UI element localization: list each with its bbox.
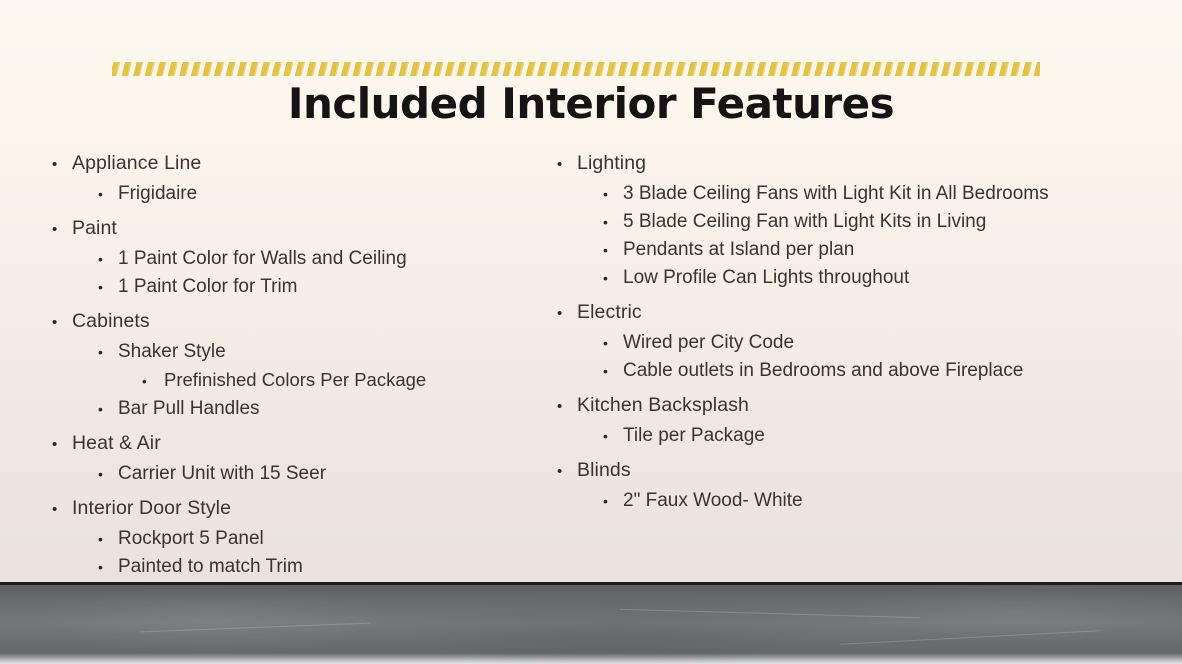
bullet-point-icon: • [603,488,623,515]
bullet-item-label: Lighting [577,148,1069,178]
stone-texture [0,585,1182,664]
bullet-item-level-1: •Appliance Line [44,148,524,180]
bullet-point-icon: • [98,339,118,366]
bullet-item-level-2: •Frigidaire [44,180,524,208]
bullet-item-level-2: •5 Blade Ceiling Fan with Light Kits in … [549,208,1069,236]
bullet-item-level-2: •1 Paint Color for Walls and Ceiling [44,245,524,273]
bullet-point-icon: • [52,215,72,245]
footer-stone-image [0,582,1182,664]
bullet-item-level-2: •Rockport 5 Panel [44,525,524,553]
bullet-item-label: Cabinets [72,306,524,336]
bullet-item-label: Kitchen Backsplash [577,390,1069,420]
bullet-item-label: Cable outlets in Bedrooms and above Fire… [623,357,1069,384]
bullet-item-label: Pendants at Island per plan [623,236,1069,263]
bullet-point-icon: • [603,181,623,208]
left-column: •Appliance Line•Frigidaire•Paint•1 Paint… [44,148,524,581]
bullet-item-level-1: •Paint [44,213,524,245]
bullet-item-level-2: •3 Blade Ceiling Fans with Light Kit in … [549,180,1069,208]
bullet-item-level-2: •Low Profile Can Lights throughout [549,264,1069,292]
bullet-item-level-3: •Prefinished Colors Per Package [44,366,524,395]
bullet-item-level-2: •Shaker Style [44,338,524,366]
bullet-item-level-1: •Heat & Air [44,428,524,460]
bullet-item-label: Wired per City Code [623,329,1069,356]
bullet-point-icon: • [603,237,623,264]
bullet-point-icon: • [98,554,118,581]
bullet-point-icon: • [557,299,577,329]
bullet-item-level-1: •Lighting [549,148,1069,180]
slide-canvas: Included Interior Features •Appliance Li… [0,0,1182,664]
bullet-item-level-2: •Painted to match Trim [44,553,524,581]
bullet-item-label: Heat & Air [72,428,524,458]
bullet-item-label: Electric [577,297,1069,327]
bullet-item-label: Paint [72,213,524,243]
bullet-item-level-2: •Wired per City Code [549,329,1069,357]
bullet-point-icon: • [557,150,577,180]
bullet-point-icon: • [603,330,623,357]
bullet-item-label: 5 Blade Ceiling Fan with Light Kits in L… [623,208,1069,235]
bullet-item-label: Carrier Unit with 15 Seer [118,460,524,487]
bullet-item-label: Tile per Package [623,422,1069,449]
bullet-item-label: Appliance Line [72,148,524,178]
bullet-item-label: 3 Blade Ceiling Fans with Light Kit in A… [623,180,1069,207]
bullet-point-icon: • [557,457,577,487]
bullet-item-level-2: •Bar Pull Handles [44,395,524,423]
stone-mottling [0,585,1182,664]
bullet-item-label: 1 Paint Color for Trim [118,273,524,300]
bullet-item-level-2: •Pendants at Island per plan [549,236,1069,264]
bullet-item-label: Low Profile Can Lights throughout [623,264,1069,291]
bullet-item-label: Rockport 5 Panel [118,525,524,552]
bullet-point-icon: • [98,181,118,208]
bullet-item-label: Bar Pull Handles [118,395,524,422]
bullet-item-label: Painted to match Trim [118,553,524,580]
bullet-item-label: Prefinished Colors Per Package [164,366,524,393]
bullet-point-icon: • [142,368,164,395]
bullet-point-icon: • [98,396,118,423]
bullet-item-level-1: •Electric [549,297,1069,329]
bullet-item-label: 1 Paint Color for Walls and Ceiling [118,245,524,272]
bullet-item-level-1: •Blinds [549,455,1069,487]
bullet-item-label: Frigidaire [118,180,524,207]
content-area: •Appliance Line•Frigidaire•Paint•1 Paint… [0,148,1182,578]
bullet-point-icon: • [98,274,118,301]
bullet-item-level-1: •Kitchen Backsplash [549,390,1069,422]
bullet-item-level-2: •2" Faux Wood- White [549,487,1069,515]
bullet-item-level-1: •Interior Door Style [44,493,524,525]
bullet-item-level-2: •Cable outlets in Bedrooms and above Fir… [549,357,1069,385]
bullet-point-icon: • [98,246,118,273]
bullet-point-icon: • [52,150,72,180]
bullet-item-level-2: •1 Paint Color for Trim [44,273,524,301]
bullet-item-label: Interior Door Style [72,493,524,523]
bullet-point-icon: • [603,423,623,450]
bullet-point-icon: • [603,209,623,236]
slide-title: Included Interior Features [0,80,1182,128]
stripe-pattern [112,62,1040,76]
right-column: •Lighting•3 Blade Ceiling Fans with Ligh… [549,148,1069,515]
bullet-item-label: Blinds [577,455,1069,485]
decorative-stripe-band [112,62,1040,76]
bullet-point-icon: • [98,461,118,488]
bullet-point-icon: • [52,495,72,525]
bullet-point-icon: • [603,265,623,292]
bullet-item-label: Shaker Style [118,338,524,365]
bullet-point-icon: • [52,430,72,460]
bullet-point-icon: • [52,308,72,338]
bullet-item-level-2: •Tile per Package [549,422,1069,450]
bullet-item-label: 2" Faux Wood- White [623,487,1069,514]
bullet-item-level-2: •Carrier Unit with 15 Seer [44,460,524,488]
bullet-point-icon: • [557,392,577,422]
bullet-point-icon: • [603,358,623,385]
bullet-item-level-1: •Cabinets [44,306,524,338]
bullet-point-icon: • [98,526,118,553]
